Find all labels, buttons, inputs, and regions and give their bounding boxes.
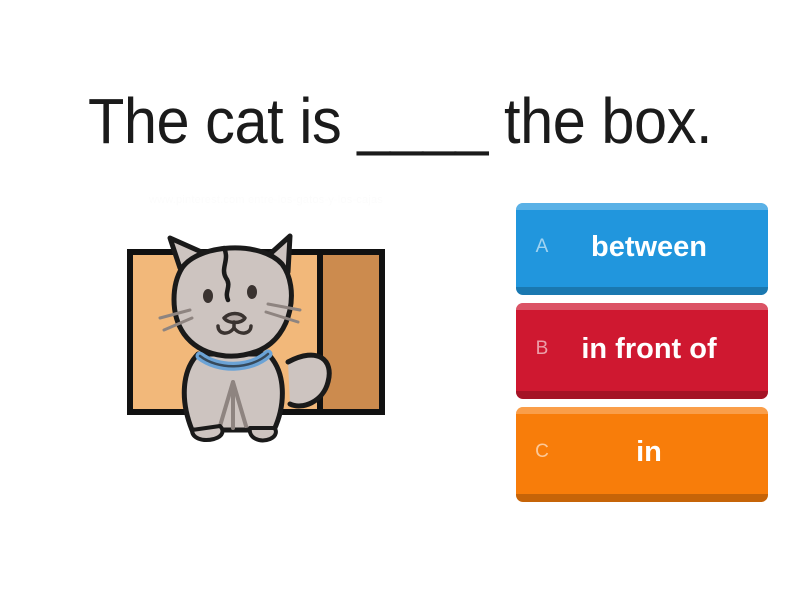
answer-letter-b: B <box>526 338 558 360</box>
cat-box-svg <box>120 214 440 449</box>
answer-option-b[interactable]: B in front of <box>516 303 768 399</box>
answer-label-a: between <box>558 227 758 267</box>
answer-options-list: A between B in front of C in <box>516 203 768 510</box>
answer-option-c[interactable]: C in <box>516 407 768 502</box>
answer-label-c: in <box>558 432 758 472</box>
cat-in-front-of-box-image <box>120 214 440 449</box>
answer-label-b: in front of <box>558 328 758 370</box>
answer-option-a[interactable]: A between <box>516 203 768 295</box>
image-watermark: www.pinterest.com entre-los-gatos-y-los-… <box>106 194 426 207</box>
answer-letter-c: C <box>526 441 558 463</box>
media-area: www.pinterest.com entre-los-gatos-y-los-… <box>60 190 480 490</box>
quiz-slide: The cat is ____ the box. www.pinterest.c… <box>0 0 800 600</box>
answer-letter-a: A <box>526 236 558 258</box>
question-title: The cat is ____ the box. <box>28 82 772 160</box>
